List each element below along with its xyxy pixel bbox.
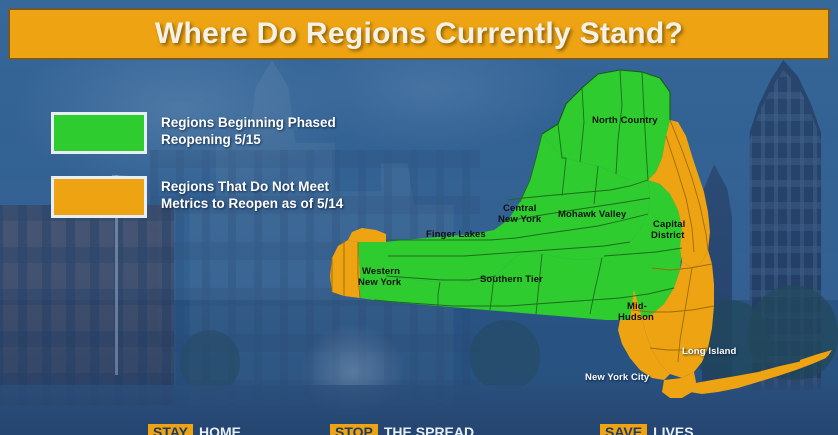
region-western-new-york[interactable] — [330, 240, 360, 298]
map-svg — [330, 62, 838, 412]
ticker-item-save-lives: SAVE LIVES — [600, 424, 694, 435]
map-label-capital-district-line1: Capital — [653, 220, 685, 230]
ticker-value-the-spread: THE SPREAD — [384, 425, 474, 435]
map-label-finger-lakes: Finger Lakes — [426, 230, 486, 240]
ticker-value-lives: LIVES — [653, 425, 693, 435]
map-label-capital-district-line2: District — [651, 231, 685, 241]
map-label-western-new-york-line2: New York — [358, 278, 401, 288]
map-label-western-new-york-line1: Western — [362, 267, 400, 277]
map-label-new-york-city: New York City — [585, 373, 649, 383]
map-label-mid-hudson-line2: Hudson — [618, 313, 654, 323]
map-label-long-island: Long Island — [682, 347, 736, 357]
ticker-key-stay: STAY — [148, 424, 193, 435]
new-york-state-region-map: North Country Finger Lakes Central New Y… — [330, 62, 838, 412]
legend-swatch-green — [51, 112, 147, 154]
map-label-southern-tier: Southern Tier — [480, 275, 543, 285]
map-label-north-country: North Country — [592, 116, 658, 126]
ticker-item-stop-spread: STOP THE SPREAD — [330, 424, 474, 435]
title-banner: Where Do Regions Currently Stand? — [8, 8, 830, 60]
ticker-key-save: SAVE — [600, 424, 647, 435]
region-long-island-fork[interactable] — [800, 350, 832, 366]
legend-swatch-orange — [51, 176, 147, 218]
map-label-mohawk-valley: Mohawk Valley — [558, 210, 626, 220]
region-western-new-york-north[interactable] — [348, 228, 386, 242]
ticker-key-stop: STOP — [330, 424, 378, 435]
map-label-central-new-york-line2: New York — [498, 215, 541, 225]
map-label-mid-hudson-line1: Mid- — [627, 302, 647, 312]
map-label-central-new-york-line1: Central — [503, 204, 536, 214]
ticker-item-stay-home: STAY HOME — [148, 424, 241, 435]
page-title: Where Do Regions Currently Stand? — [155, 17, 683, 51]
ticker-value-home: HOME — [199, 425, 241, 435]
